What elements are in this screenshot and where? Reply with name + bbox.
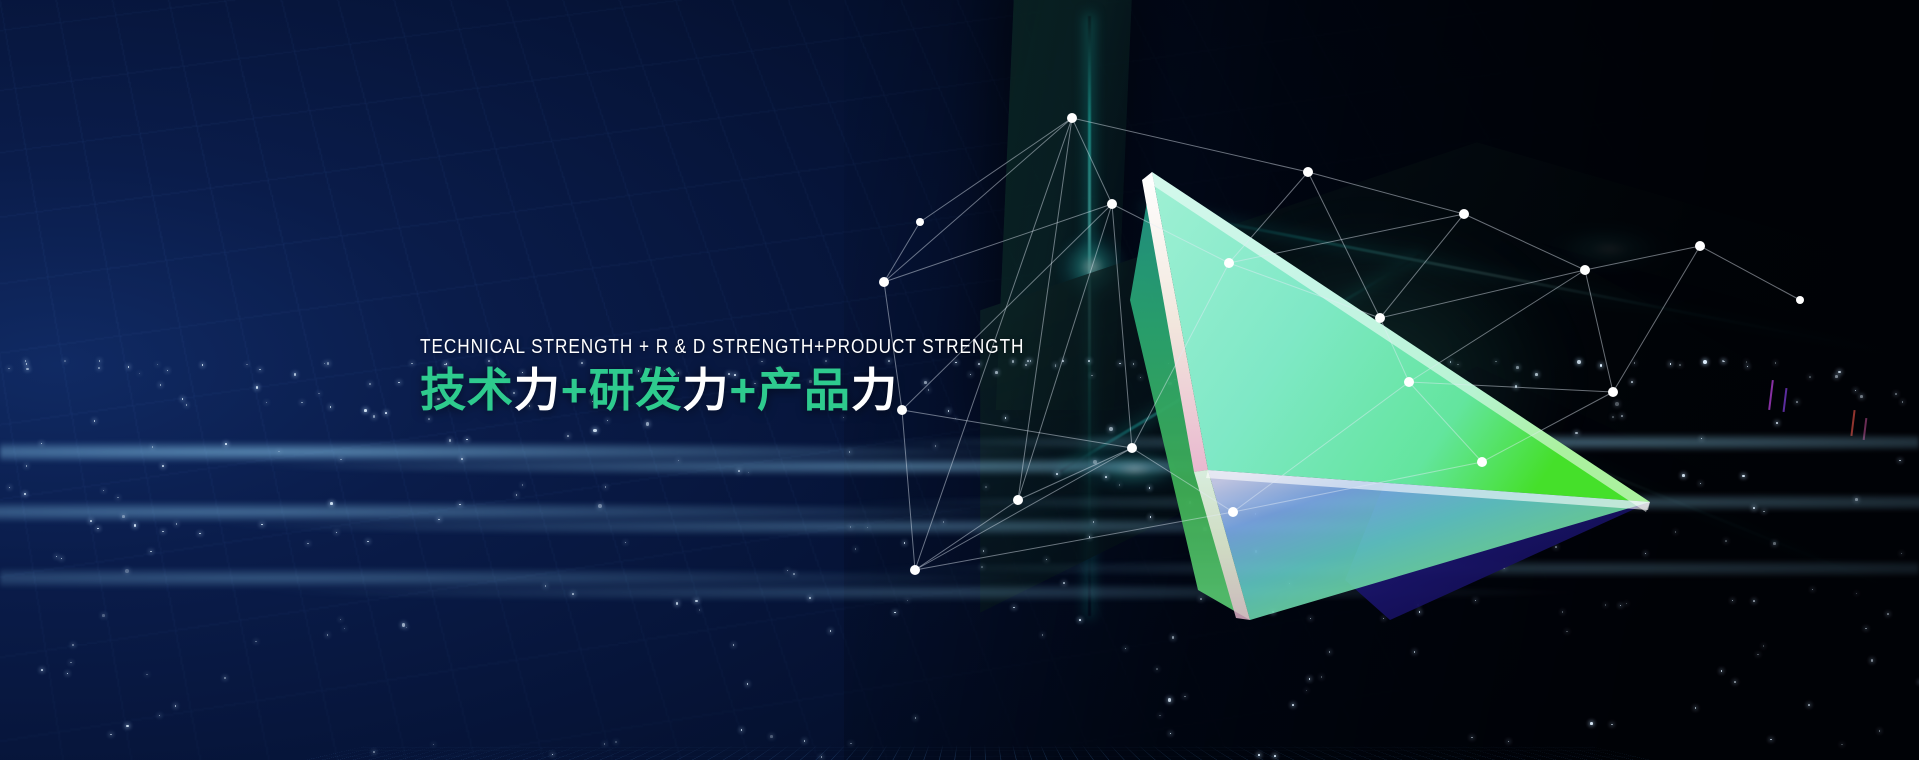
headline-segment-5: 力 — [682, 364, 729, 416]
headline-segment-3: + — [561, 364, 589, 416]
headline-segment-8: 力 — [851, 364, 898, 416]
play-arrow-3d-icon — [1090, 150, 1650, 620]
page-title: 技术力+研发力+产品力 — [420, 363, 1123, 417]
tagline-english: TECHNICAL STRENGTH + R & D STRENGTH+PROD… — [420, 336, 1024, 359]
headline-segment-1: 技术 — [420, 364, 514, 416]
headline-segment-4: 研发 — [589, 364, 683, 416]
hero-banner: TECHNICAL STRENGTH + R & D STRENGTH+PROD… — [0, 0, 1919, 760]
headline-segment-2: 力 — [514, 364, 561, 416]
copy-block: TECHNICAL STRENGTH + R & D STRENGTH+PROD… — [420, 336, 1123, 417]
headline-segment-6: + — [729, 364, 757, 416]
wireframe-terrain-mesh — [0, 745, 1919, 760]
headline-segment-7: 产品 — [757, 364, 851, 416]
